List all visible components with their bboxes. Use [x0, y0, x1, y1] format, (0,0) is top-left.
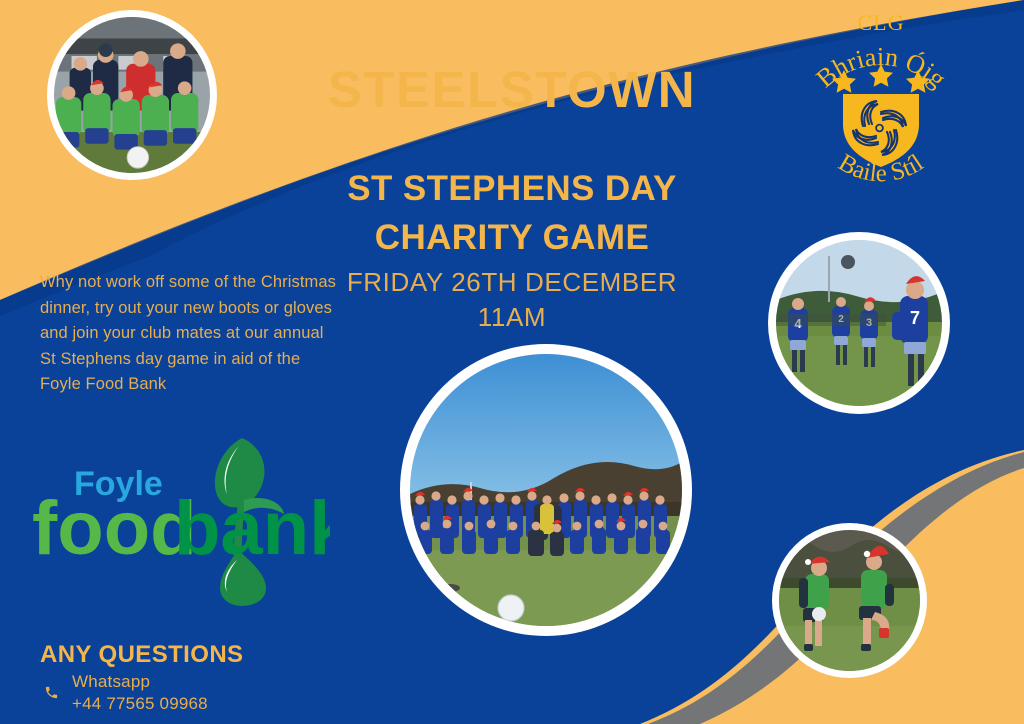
photo-santa-players-image — [779, 530, 920, 671]
phone-icon — [40, 678, 62, 708]
svg-text:7: 7 — [910, 308, 920, 328]
event-title-main: STEELSTOWN — [288, 62, 736, 117]
contact-block: ANY QUESTIONS Whatsapp +44 77565 09968 — [40, 641, 340, 715]
event-title-subheading-1: ST STEPHENS DAY — [288, 169, 736, 208]
foodbank-word-bank: bank — [174, 486, 330, 571]
club-crest-logo: CLG Bhriain Óig — [786, 2, 976, 196]
crest-text-clg: CLG — [858, 10, 905, 35]
contact-channel: Whatsapp — [72, 671, 208, 692]
foyle-foodbank-logo: Foyle food bank — [30, 432, 330, 607]
event-datetime: FRIDAY 26TH DECEMBER 11AM — [330, 265, 694, 335]
contact-row: Whatsapp +44 77565 09968 — [40, 671, 340, 715]
photo-team-green-image — [54, 17, 210, 173]
photo-main-team — [400, 344, 692, 636]
contact-lines: Whatsapp +44 77565 09968 — [72, 671, 208, 715]
photo-match-blue-image: 4 3 7 2 — [776, 240, 942, 406]
poster-heading-block: STEELSTOWN ST STEPHENS DAY CHARITY GAME — [288, 62, 736, 257]
poster-canvas: CLG Bhriain Óig — [0, 0, 1024, 724]
photo-main-team-image — [410, 354, 682, 626]
photo-team-green — [47, 10, 217, 180]
contact-phone-number: +44 77565 09968 — [72, 693, 208, 714]
foodbank-word-food: food — [32, 486, 197, 571]
event-title-subheading-2: CHARITY GAME — [288, 218, 736, 257]
contact-heading: ANY QUESTIONS — [40, 641, 340, 669]
photo-santa-players — [772, 523, 927, 678]
photo-match-blue: 4 3 7 2 — [768, 232, 950, 414]
event-description-text: Why not work off some of the Christmas d… — [40, 270, 340, 398]
